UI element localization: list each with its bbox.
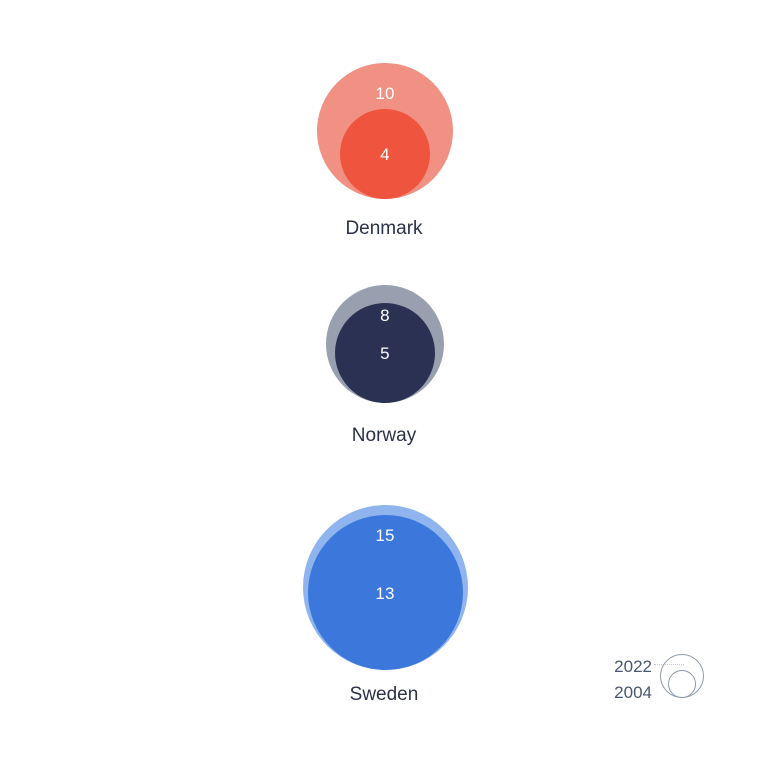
bubble-group-denmark[interactable]: 10 4 Denmark [0, 63, 768, 199]
category-label-denmark: Denmark [0, 219, 768, 238]
bubble-stack-denmark: 10 4 [0, 63, 768, 199]
bubble-group-sweden[interactable]: 15 13 Sweden [0, 505, 768, 670]
legend-label-2004: 2004 [600, 684, 652, 701]
bubble-stack-norway: 8 5 [0, 285, 768, 403]
bubble-value-denmark-2022: 10 [345, 85, 425, 102]
chart-legend: 2022 2004 [600, 652, 710, 714]
bubble-value-sweden-2004: 13 [345, 585, 425, 602]
bubble-group-norway[interactable]: 8 5 Norway [0, 285, 768, 403]
legend-label-2022: 2022 [600, 658, 652, 675]
category-label-norway: Norway [0, 426, 768, 445]
bubble-chart: 10 4 Denmark 8 5 Norway 15 13 Sweden 202… [0, 0, 768, 768]
bubble-value-norway-2022: 8 [345, 307, 425, 324]
legend-circle-inner-icon [668, 670, 696, 698]
bubble-stack-sweden: 15 13 [0, 505, 768, 670]
bubble-value-sweden-2022: 15 [345, 527, 425, 544]
bubble-value-denmark-2004: 4 [345, 146, 425, 163]
bubble-value-norway-2004: 5 [345, 345, 425, 362]
